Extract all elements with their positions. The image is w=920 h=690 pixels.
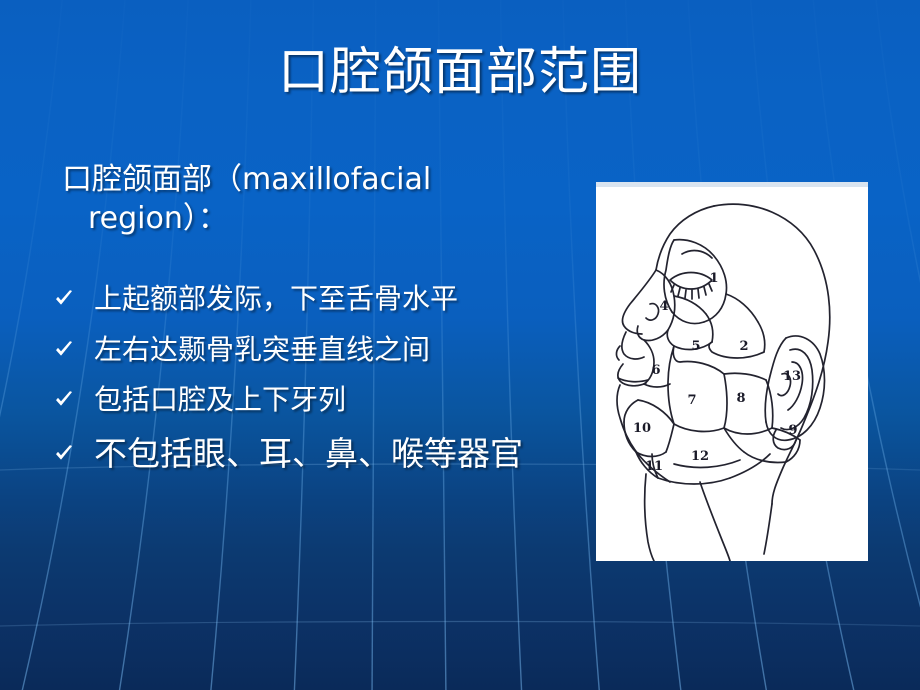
region-label: 9 [788, 423, 797, 438]
region-label: 13 [783, 369, 801, 384]
list-item-label: 左右达颞骨乳突垂直线之间 [94, 333, 430, 366]
region-label: 5 [691, 339, 700, 354]
list-item-label: 上起额部发际，下至舌骨水平 [94, 282, 458, 315]
region-label: 11 [645, 459, 663, 474]
lead-paragraph: 口腔颌面部（maxillofacial region）： [46, 160, 576, 238]
list-item: 上起额部发际，下至舌骨水平 [46, 278, 576, 321]
check-icon [54, 443, 74, 463]
list-item-label: 包括口腔及上下牙列 [94, 383, 346, 416]
region-label: 8 [736, 391, 745, 406]
region-label: 4 [659, 299, 668, 314]
head-profile-line-drawing: 1 2 4 5 6 7 8 9 10 11 12 13 [596, 182, 868, 561]
region-label: 7 [687, 393, 696, 408]
list-item: 包括口腔及上下牙列 [46, 379, 576, 422]
lead-text-cn-open: 口腔颌面部（ [62, 162, 242, 197]
list-item-label: 不包括眼、耳、鼻、喉等器官 [94, 434, 523, 473]
lead-text-cn-close: ）： [183, 201, 228, 236]
bullet-list: 上起额部发际，下至舌骨水平 左右达颞骨乳突垂直线之间 包括口腔及上下牙列 不包括… [46, 278, 576, 478]
maxillofacial-region-diagram: 1 2 4 5 6 7 8 9 10 11 12 13 [596, 182, 868, 561]
region-label: 12 [691, 449, 709, 464]
presentation-slide: 口腔颌面部范围 口腔颌面部（maxillofacial region）： 上起额… [0, 0, 920, 690]
region-label: 1 [709, 271, 718, 286]
check-icon [54, 390, 74, 410]
check-icon [54, 289, 74, 309]
region-label: 2 [739, 339, 748, 354]
list-item: 不包括眼、耳、鼻、喉等器官 [46, 430, 576, 478]
lead-text-en-2: region [88, 201, 183, 236]
region-label: 6 [651, 363, 660, 378]
region-label: 10 [633, 421, 651, 436]
slide-title: 口腔颌面部范围 [0, 44, 920, 101]
check-icon [54, 339, 74, 359]
lead-line-2: region）： [66, 199, 576, 238]
lead-text-en-1: maxillofacial [242, 162, 431, 197]
slide-body: 口腔颌面部（maxillofacial region）： 上起额部发际，下至舌骨… [46, 160, 576, 486]
list-item: 左右达颞骨乳突垂直线之间 [46, 329, 576, 372]
